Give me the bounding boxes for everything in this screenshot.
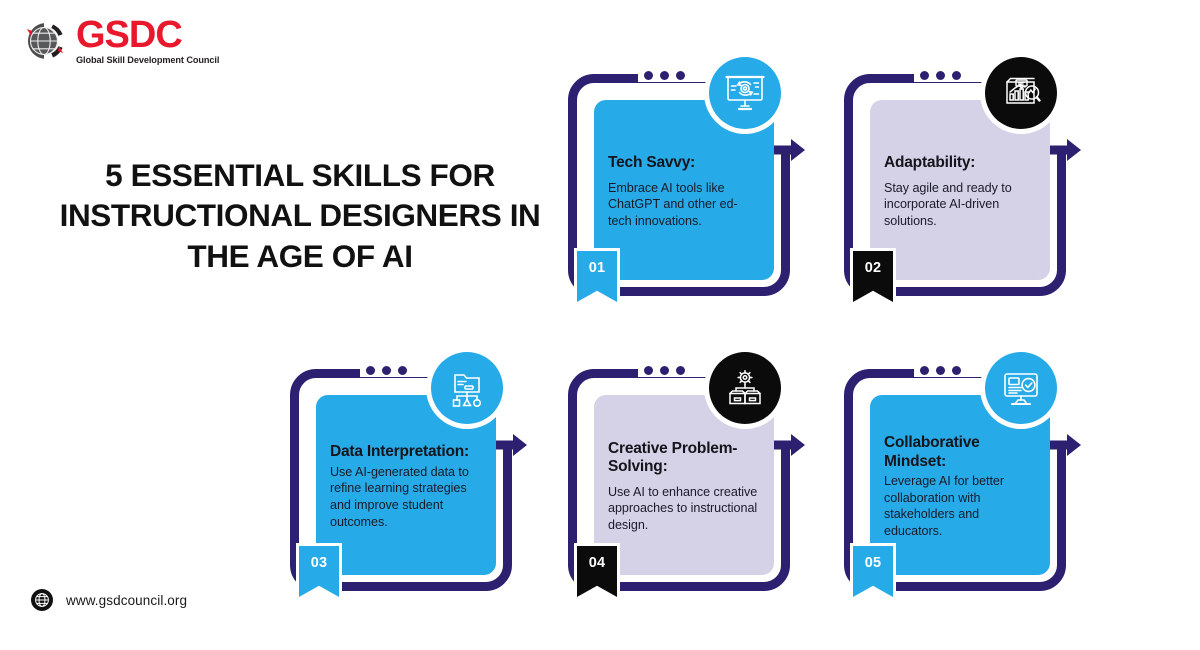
card-number: 04 <box>589 555 606 571</box>
monitor-check-approved-icon <box>998 365 1044 411</box>
card-number: 03 <box>311 555 328 571</box>
globe-icon <box>30 588 54 612</box>
chart-report-magnifier-icon <box>998 70 1044 116</box>
card-icon-badge <box>980 52 1062 134</box>
card-icon-badge <box>704 347 786 429</box>
card-number: 05 <box>865 555 882 571</box>
card-icon-badge <box>704 52 786 134</box>
dots-decoration <box>366 366 407 375</box>
card-number-ribbon: 01 <box>574 248 620 302</box>
card-title: Data Interpretation: <box>330 443 482 461</box>
card-title: Tech Savvy: <box>608 154 760 172</box>
card-number: 01 <box>589 260 606 276</box>
skill-card-02: Adaptability: Stay agile and ready to in… <box>836 52 1086 317</box>
logo-wordmark: GSDC <box>76 16 219 54</box>
card-title: Collaborative Mindset: <box>884 434 1036 471</box>
card-title: Creative Problem-Solving: <box>608 440 760 477</box>
card-number-ribbon: 05 <box>850 543 896 597</box>
website-url[interactable]: www.gsdcouncil.org <box>66 593 187 608</box>
dots-decoration <box>644 71 685 80</box>
skill-card-05: Collaborative Mindset: Leverage AI for b… <box>836 347 1086 612</box>
card-body: Stay agile and ready to incorporate AI-d… <box>884 180 1036 230</box>
card-body: Leverage AI for better collaboration wit… <box>884 473 1036 540</box>
card-icon-badge <box>426 347 508 429</box>
gear-boxes-tree-icon <box>722 365 768 411</box>
card-number-ribbon: 03 <box>296 543 342 597</box>
globe-arrows-icon <box>22 17 70 65</box>
logo-tagline: Global Skill Development Council <box>76 56 219 65</box>
presentation-gear-refresh-icon <box>722 70 768 116</box>
dots-decoration <box>920 71 961 80</box>
card-body: Use AI to enhance creative approaches to… <box>608 484 760 534</box>
dots-decoration <box>644 366 685 375</box>
card-number-ribbon: 02 <box>850 248 896 302</box>
card-number-ribbon: 04 <box>574 543 620 597</box>
skill-card-01: Tech Savvy: Embrace AI tools like ChatGP… <box>560 52 810 317</box>
skill-card-03: Data Interpretation: Use AI-generated da… <box>282 347 532 612</box>
dots-decoration <box>920 366 961 375</box>
brand-logo: GSDC Global Skill Development Council <box>22 16 219 65</box>
skill-card-04: Creative Problem-Solving: Use AI to enha… <box>560 347 810 612</box>
card-title: Adaptability: <box>884 154 1036 172</box>
card-icon-badge <box>980 347 1062 429</box>
card-body: Use AI-generated data to refine learning… <box>330 464 482 531</box>
infographic-page: GSDC Global Skill Development Council 5 … <box>0 0 1200 650</box>
page-title: 5 ESSENTIAL SKILLS FOR INSTRUCTIONAL DES… <box>30 155 570 276</box>
card-number: 02 <box>865 260 882 276</box>
card-body: Embrace AI tools like ChatGPT and other … <box>608 180 760 230</box>
folder-hierarchy-shapes-icon <box>444 365 490 411</box>
footer: www.gsdcouncil.org <box>30 588 187 612</box>
